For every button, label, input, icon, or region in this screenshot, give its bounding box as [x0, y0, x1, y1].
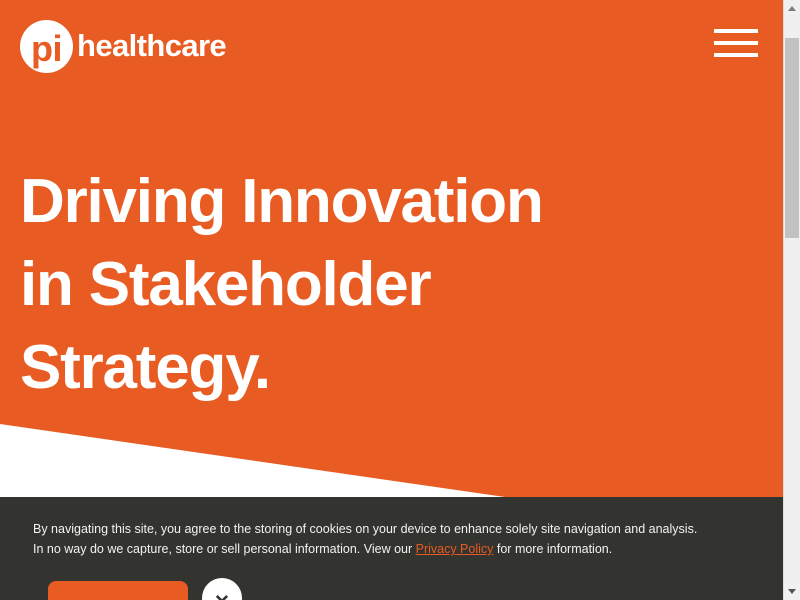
hamburger-bar-middle [714, 41, 758, 45]
hamburger-bar-bottom [714, 53, 758, 57]
cookie-consent-text: By navigating this site, you agree to th… [33, 519, 733, 559]
cookie-text-line-2: In no way do we capture, store or sell p… [33, 539, 733, 559]
scrollbar-thumb[interactable] [785, 38, 799, 238]
cookie-banner-actions: Accept ✕ [48, 578, 242, 600]
close-banner-icon[interactable]: ✕ [202, 578, 242, 600]
hero-headline: Driving Innovation in Stakeholder Strate… [20, 160, 660, 409]
pi-circle-logo-icon: pi [20, 20, 73, 73]
cookie-text-line-2-suffix: for more information. [493, 542, 612, 556]
scroll-down-arrow-icon[interactable] [784, 583, 800, 600]
scroll-up-arrow-icon[interactable] [784, 0, 800, 17]
headline-line-1: Driving Innovation [20, 160, 660, 243]
site-logo[interactable]: pi healthcare [20, 20, 226, 73]
logo-wordmark: healthcare [77, 30, 226, 63]
headline-line-2: in Stakeholder [20, 243, 660, 326]
logo-mark-text: pi [20, 20, 73, 73]
browser-viewport: pi healthcare Driving Innovation in Stak… [0, 0, 784, 600]
chevron-down-glyph [788, 589, 796, 594]
cookie-text-line-2-prefix: In no way do we capture, store or sell p… [33, 542, 416, 556]
cookie-text-line-1: By navigating this site, you agree to th… [33, 519, 733, 539]
headline-line-3: Strategy. [20, 326, 660, 409]
hamburger-bar-top [714, 29, 758, 33]
site-header: pi healthcare [0, 0, 784, 92]
hamburger-menu-icon[interactable] [714, 26, 758, 60]
privacy-policy-link[interactable]: Privacy Policy [416, 542, 494, 556]
chevron-up-glyph [788, 6, 796, 11]
vertical-scrollbar[interactable] [783, 0, 800, 600]
accept-cookies-button[interactable]: Accept [48, 581, 188, 600]
